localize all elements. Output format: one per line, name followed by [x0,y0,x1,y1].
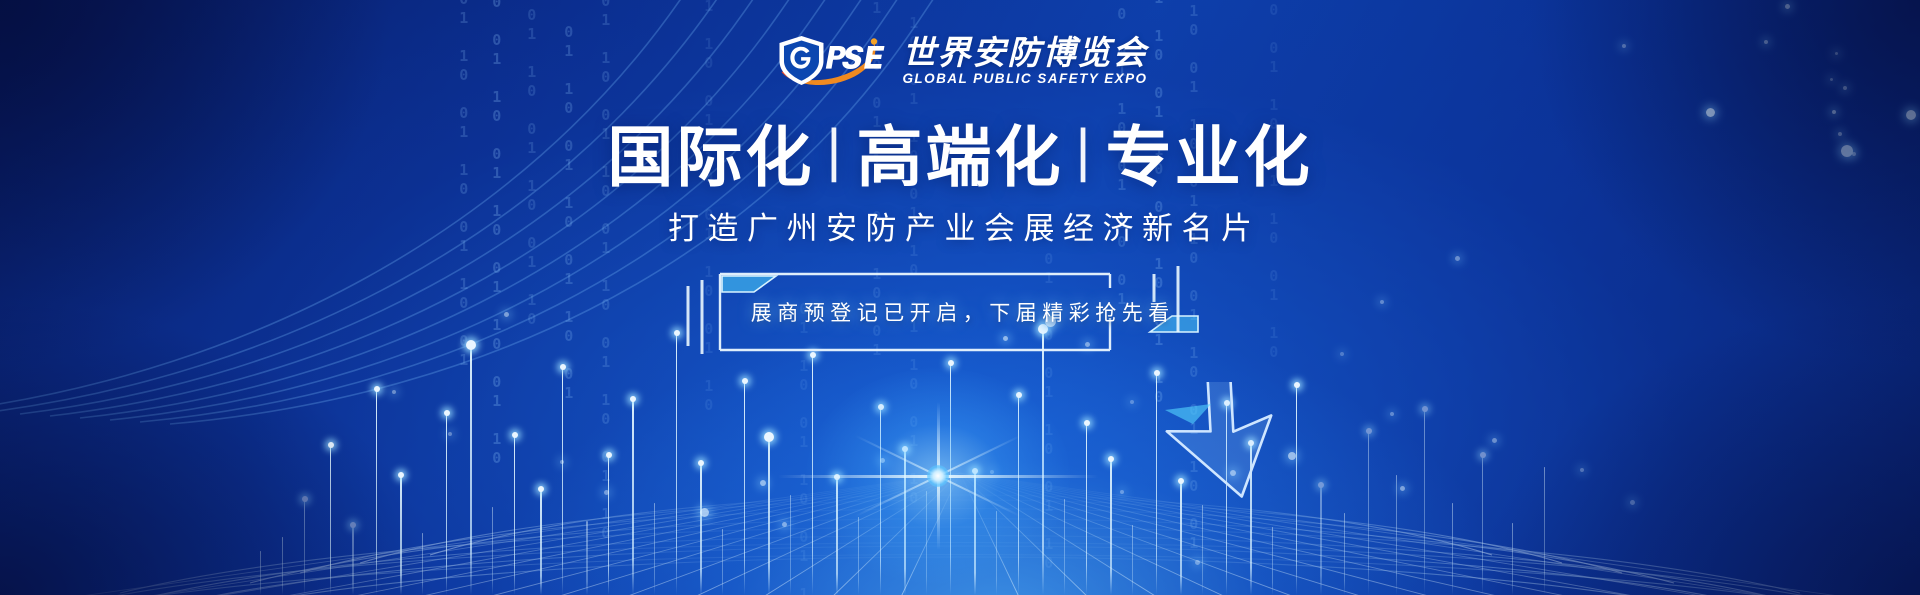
shield-g-icon [772,33,888,89]
brand-logo[interactable]: 世界安防博览会 GLOBAL PUBLIC SAFETY EXPO [772,33,1147,89]
headline-part-1: 国际化 [607,104,814,200]
headline-separator-1: | [826,117,844,184]
banner-hero: 01 10 01 10 01 10 01 10 01 10 01 10 01 1… [0,0,1920,595]
cta-text: 展商预登记已开启，下届精彩抢先看 [680,297,1240,327]
headline-part-3: 专业化 [1106,104,1313,200]
mouse-cursor-arrow-icon[interactable] [1137,382,1287,512]
headline-part-2: 高端化 [857,104,1064,200]
cta-registration-banner[interactable]: 展商预登记已开启，下届精彩抢先看 [680,258,1240,366]
page-subtitle: 打造广州安防产业会展经济新名片 [660,203,1261,248]
brand-name-cn: 世界安防博览会 [902,36,1147,70]
page-title: 国际化 | 高端化 | 专业化 [607,104,1312,200]
headline-separator-2: | [1076,117,1094,184]
brand-name-en: GLOBAL PUBLIC SAFETY EXPO [902,72,1147,86]
frame-notch-top-left [722,276,776,292]
